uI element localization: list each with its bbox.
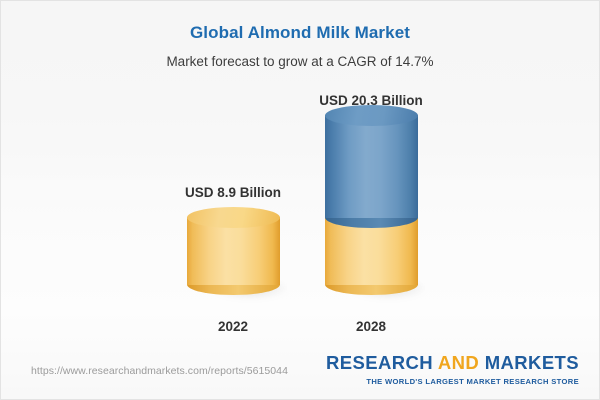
cylinder-segment-base xyxy=(187,207,280,295)
bar-value-label-2022: USD 8.9 Billion xyxy=(158,185,308,200)
cylinder-segment-growth xyxy=(325,105,418,228)
brand-logo[interactable]: RESEARCH AND MARKETS THE WORLD'S LARGEST… xyxy=(326,354,579,386)
brand-word-markets: MARKETS xyxy=(479,352,579,373)
brand-word-research: RESEARCH xyxy=(326,352,438,373)
page-subtitle: Market forecast to grow at a CAGR of 14.… xyxy=(1,54,599,69)
infographic-canvas: Global Almond Milk Market Market forecas… xyxy=(0,0,600,400)
footer: https://www.researchandmarkets.com/repor… xyxy=(1,341,600,399)
bar-category-label-2022: 2022 xyxy=(158,319,308,334)
brand-wordmark: RESEARCH AND MARKETS xyxy=(326,354,579,373)
cylinder-top-cap xyxy=(187,207,280,228)
bar-category-label-2028: 2028 xyxy=(296,319,446,334)
chart-plot-area: USD 8.9 Billion 2022 USD 20.3 Billion xyxy=(1,81,600,343)
source-url[interactable]: https://www.researchandmarkets.com/repor… xyxy=(31,365,288,377)
cylinder-2022 xyxy=(187,207,280,295)
bar-group-2028: USD 20.3 Billion 2028 xyxy=(296,81,446,343)
brand-tagline: THE WORLD'S LARGEST MARKET RESEARCH STOR… xyxy=(326,377,579,386)
cylinder-body xyxy=(325,115,418,218)
bar-group-2022: USD 8.9 Billion 2022 xyxy=(158,81,308,343)
page-title: Global Almond Milk Market xyxy=(1,23,599,43)
cylinder-2028 xyxy=(325,105,418,295)
cylinder-top-cap xyxy=(325,105,418,126)
header: Global Almond Milk Market Market forecas… xyxy=(1,1,599,69)
brand-word-and: AND xyxy=(438,352,479,373)
